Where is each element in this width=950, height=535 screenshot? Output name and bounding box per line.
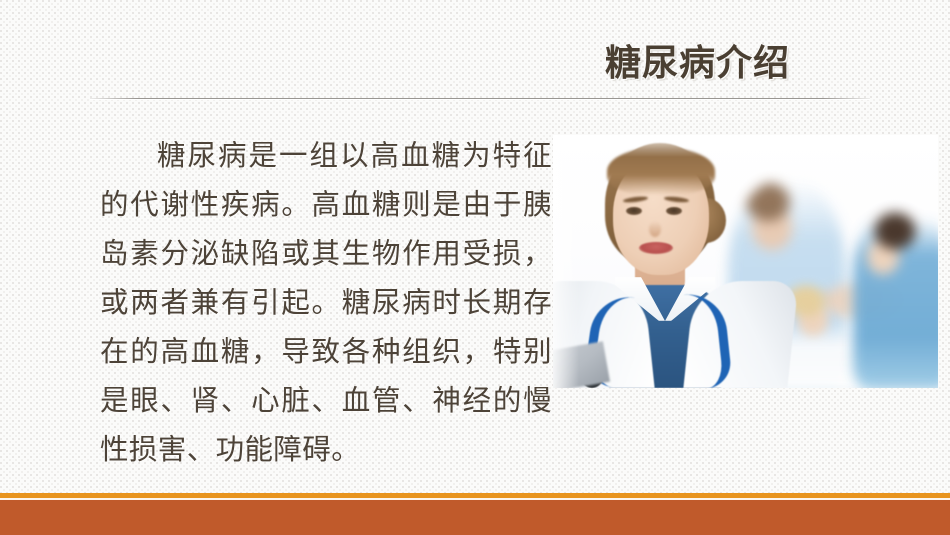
page-title: 糖尿病介绍 xyxy=(605,41,790,84)
body-paragraph: 糖尿病是一组以高血糖为特征的代谢性疾病。高血糖则是由于胰岛素分泌缺陷或其生物作用… xyxy=(100,132,552,475)
photo-canvas xyxy=(553,135,938,388)
doctor-eye-left xyxy=(626,207,642,215)
photo-top-fade xyxy=(553,135,938,157)
footer-bar xyxy=(0,500,950,535)
doctor-eye-right xyxy=(666,207,682,215)
photo-left-fade xyxy=(553,135,579,388)
doctor-mouth xyxy=(639,242,673,254)
foreground-doctor xyxy=(553,135,793,388)
doctor-nose xyxy=(649,221,661,237)
slide: 糖尿病介绍 糖尿病是一组以高血糖为特征的代谢性疾病。高血糖则是由于胰岛素分泌缺陷… xyxy=(0,0,950,535)
background-person-nurse xyxy=(853,207,938,388)
doctor-photo xyxy=(553,135,938,388)
title-divider xyxy=(90,98,870,99)
